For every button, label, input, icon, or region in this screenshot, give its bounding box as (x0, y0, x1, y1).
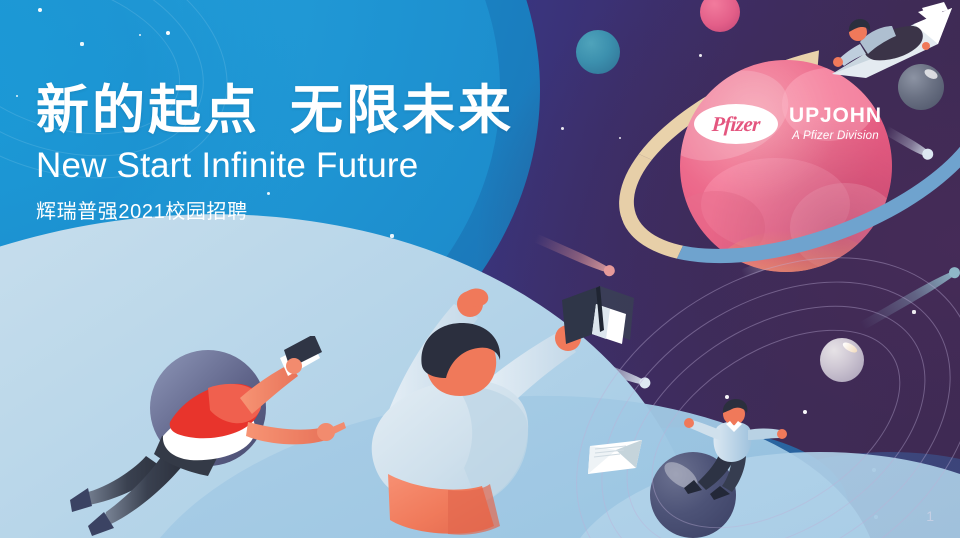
star (80, 42, 83, 45)
illustration-person-on-planet (676, 396, 796, 506)
pfizer-logo-oval: Pfizer (694, 104, 778, 144)
headline-chinese: 新的起点无限未来 (36, 84, 514, 138)
page-number: 1 (926, 508, 934, 524)
pfizer-upjohn-logo: Pfizer UPJOHN A Pfizer Division (694, 104, 882, 144)
illustration-paper-airplane (586, 436, 648, 480)
upjohn-wordmark: UPJOHN (789, 105, 882, 126)
star (561, 127, 564, 130)
headline-block: 新的起点无限未来 New Start Infinite Future 辉瑞普强2… (36, 84, 514, 224)
illustration-person-on-paper-plane (826, 2, 958, 80)
subtitle-chinese: 辉瑞普强2021校园招聘 (36, 195, 514, 224)
planet-teal-small (576, 30, 620, 74)
pfizer-wordmark: Pfizer (711, 112, 760, 137)
recruitment-poster: Pfizer UPJOHN A Pfizer Division (0, 0, 960, 538)
star (38, 8, 42, 12)
headline-chinese-part2: 无限未来 (290, 82, 514, 140)
illustration-open-book (556, 282, 642, 362)
illustration-flying-person-left (58, 336, 358, 536)
headline-chinese-part1: 新的起点 (36, 82, 260, 140)
headline-english: New Start Infinite Future (36, 147, 514, 186)
pfizer-division-tagline: A Pfizer Division (789, 131, 882, 143)
